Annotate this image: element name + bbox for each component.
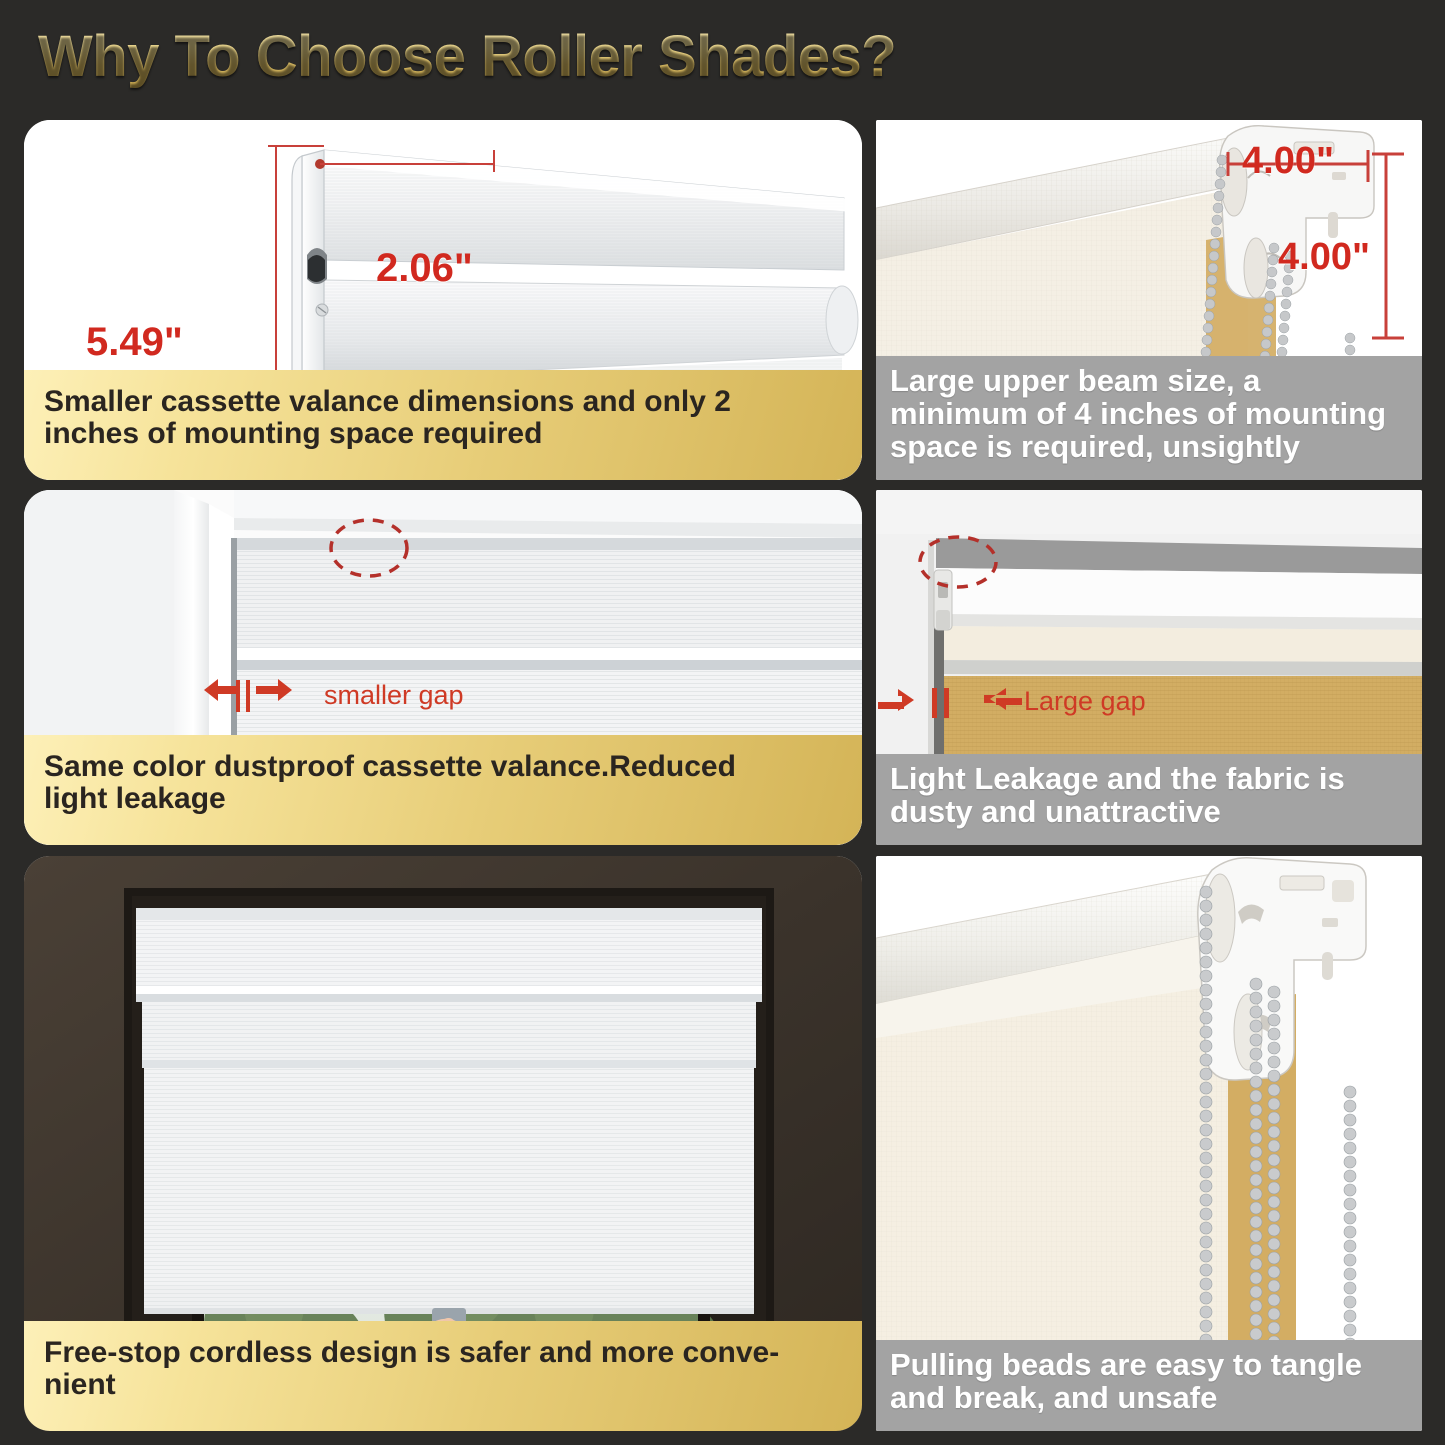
- panel-bad-beam-dimensions[interactable]: 4.00" 4.00" Large upper beam size, a min…: [876, 120, 1422, 480]
- panel-good-cordless[interactable]: Free-stop cordless design is safer and m…: [24, 856, 862, 1431]
- panel-bad-large-gap[interactable]: Large gap Light Leakage and the fabric i…: [876, 490, 1422, 845]
- panel-good-small-gap[interactable]: smaller gap Same color dustproof cassett…: [24, 490, 862, 845]
- caption-bad-beaded-chain: Pulling beads are easy to tangle and bre…: [876, 1340, 1422, 1431]
- annotation-height-4-00: 4.00": [1278, 236, 1370, 279]
- header-bar: Why To Choose Roller Shades?: [0, 0, 1445, 112]
- caption-good-cassette-dimensions: Smaller cassette valance dimensions and …: [24, 370, 862, 480]
- caption-good-cordless: Free-stop cordless design is safer and m…: [24, 1321, 862, 1431]
- caption-good-small-gap: Same color dustproof cassette valance.Re…: [24, 735, 862, 845]
- page-title: Why To Choose Roller Shades?: [38, 23, 896, 90]
- caption-bad-large-gap: Light Leakage and the fabric is dusty an…: [876, 754, 1422, 845]
- caption-bad-beam-dimensions: Large upper beam size, a minimum of 4 in…: [876, 356, 1422, 480]
- annotation-width-4-00: 4.00": [1242, 140, 1334, 183]
- annotation-large-gap: Large gap: [1024, 686, 1146, 717]
- panel-bad-beaded-chain[interactable]: Pulling beads are easy to tangle and bre…: [876, 856, 1422, 1431]
- annotation-smaller-gap: smaller gap: [324, 680, 464, 711]
- comparison-grid: 2.06" 5.49" Smaller cassette valance dim…: [0, 108, 1445, 1445]
- panel-good-cassette-dimensions[interactable]: 2.06" 5.49" Smaller cassette valance dim…: [24, 120, 862, 480]
- annotation-height-5-49: 5.49": [86, 320, 183, 365]
- annotation-width-2-06: 2.06": [376, 246, 473, 291]
